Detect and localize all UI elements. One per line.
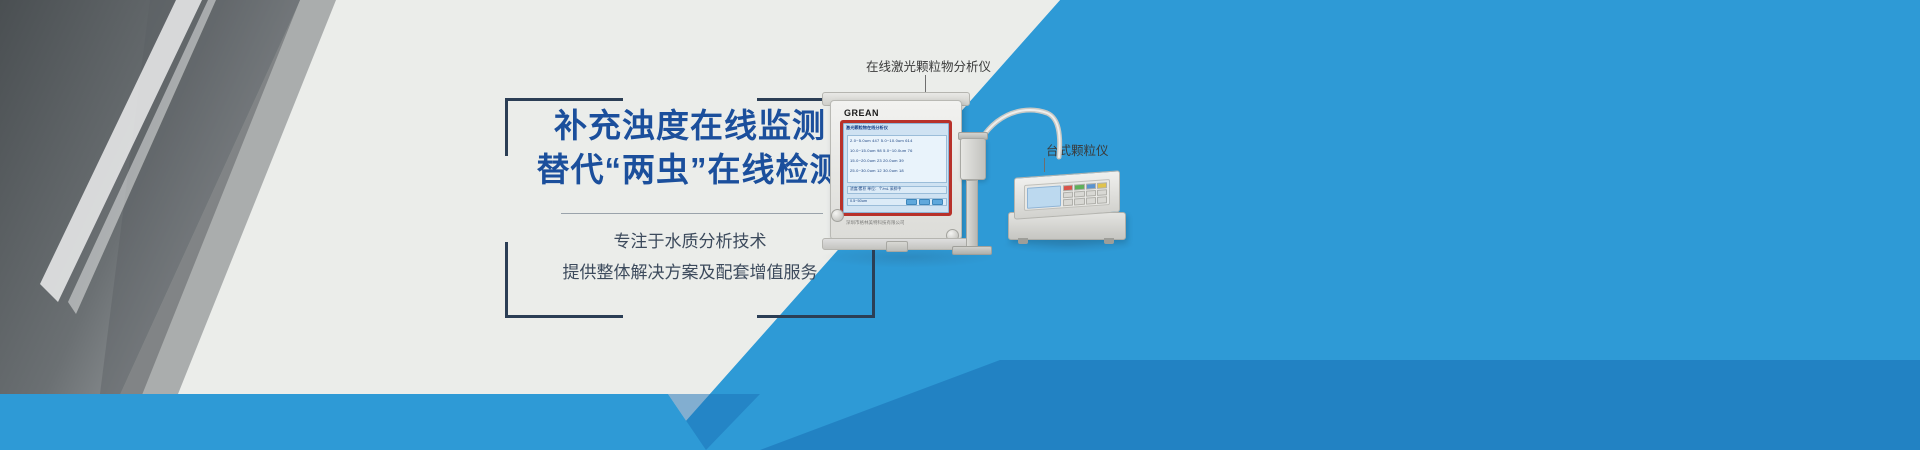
benchtop-foot-left <box>1018 238 1028 244</box>
hero-banner: 补充浊度在线监测 替代“两虫”在线检测 专注于水质分析技术 提供整体解决方案及配… <box>0 0 1920 450</box>
analyzer-screen[interactable]: 激光颗粒物在线分析仪 2.0~5.0um 447 5.0~10.0um 614 … <box>843 123 949 213</box>
benchtop-key[interactable] <box>1086 190 1096 197</box>
analyzer-screen-bezel: 激光颗粒物在线分析仪 2.0~5.0um 447 5.0~10.0um 614 … <box>840 120 952 216</box>
analyzer-screen-button-setup[interactable] <box>906 199 917 205</box>
analyzer-status-bar: 浓度/累积 单位：个/mL 采样中 <box>847 186 947 194</box>
subtitle-line-2: 提供整体解决方案及配套增值服务 <box>505 257 875 288</box>
benchtop-foot-right <box>1104 238 1114 244</box>
analyzer-latch-knob-left[interactable] <box>831 209 844 222</box>
sensor-housing <box>960 138 986 180</box>
benchtop-key[interactable] <box>1097 196 1107 203</box>
analyzer-footer-text: 深圳市格林美特科技有限公司 <box>846 220 905 226</box>
headline-block: 补充浊度在线监测 替代“两虫”在线检测 专注于水质分析技术 提供整体解决方案及配… <box>505 98 875 318</box>
benchtop-key[interactable] <box>1074 198 1084 205</box>
benchtop-keypad[interactable] <box>1063 182 1107 206</box>
benchtop-key[interactable] <box>1097 189 1107 196</box>
benchtop-key[interactable] <box>1086 197 1096 204</box>
analyzer-screen-button-query[interactable] <box>919 199 930 205</box>
benchtop-key[interactable] <box>1074 183 1084 190</box>
benchtop-key[interactable] <box>1063 191 1073 198</box>
analyzer-data-grid: 2.0~5.0um 447 5.0~10.0um 614 10.0~15.0um… <box>847 135 947 183</box>
sensor-stand-base <box>952 246 992 255</box>
page-title: 补充浊度在线监测 替代“两虫”在线检测 <box>505 104 875 192</box>
headline-line-1: 补充浊度在线监测 <box>505 104 875 148</box>
headline-line-2: 替代“两虫”在线检测 <box>505 148 875 192</box>
benchtop-key[interactable] <box>1063 199 1073 206</box>
sensor-stand-post <box>966 180 978 250</box>
analyzer-data-row: 15.0~20.0um 23 20.0um 39 <box>850 158 946 165</box>
device-online-analyzer: GREAN 激光颗粒物在线分析仪 2.0~5.0um 447 5.0~10.0u… <box>822 92 970 252</box>
benchtop-key[interactable] <box>1086 182 1096 189</box>
analyzer-data-row: 25.0~30.0um 12 30.0um 18 <box>850 168 946 175</box>
benchtop-key[interactable] <box>1063 184 1073 191</box>
title-divider <box>561 213 823 214</box>
analyzer-data-row: 10.0~15.0um 98 5.0~10.0um 76 <box>850 148 946 155</box>
analyzer-screen-button-print[interactable] <box>932 199 943 205</box>
analyzer-screen-title: 激光颗粒物在线分析仪 <box>846 125 888 131</box>
analyzer-data-row: 2.0~5.0um 447 5.0~10.0um 614 <box>850 138 946 145</box>
device-benchtop-counter <box>1008 168 1126 248</box>
analyzer-cable-gland <box>886 241 908 252</box>
subtitle-line-1: 专注于水质分析技术 <box>505 226 875 257</box>
analyzer-brand-logo: GREAN <box>844 108 879 118</box>
benchtop-key[interactable] <box>1074 191 1084 198</box>
callout-label-analyzer: 在线激光颗粒物分析仪 <box>866 59 991 75</box>
benchtop-key[interactable] <box>1097 182 1107 189</box>
benchtop-display[interactable] <box>1027 185 1061 208</box>
